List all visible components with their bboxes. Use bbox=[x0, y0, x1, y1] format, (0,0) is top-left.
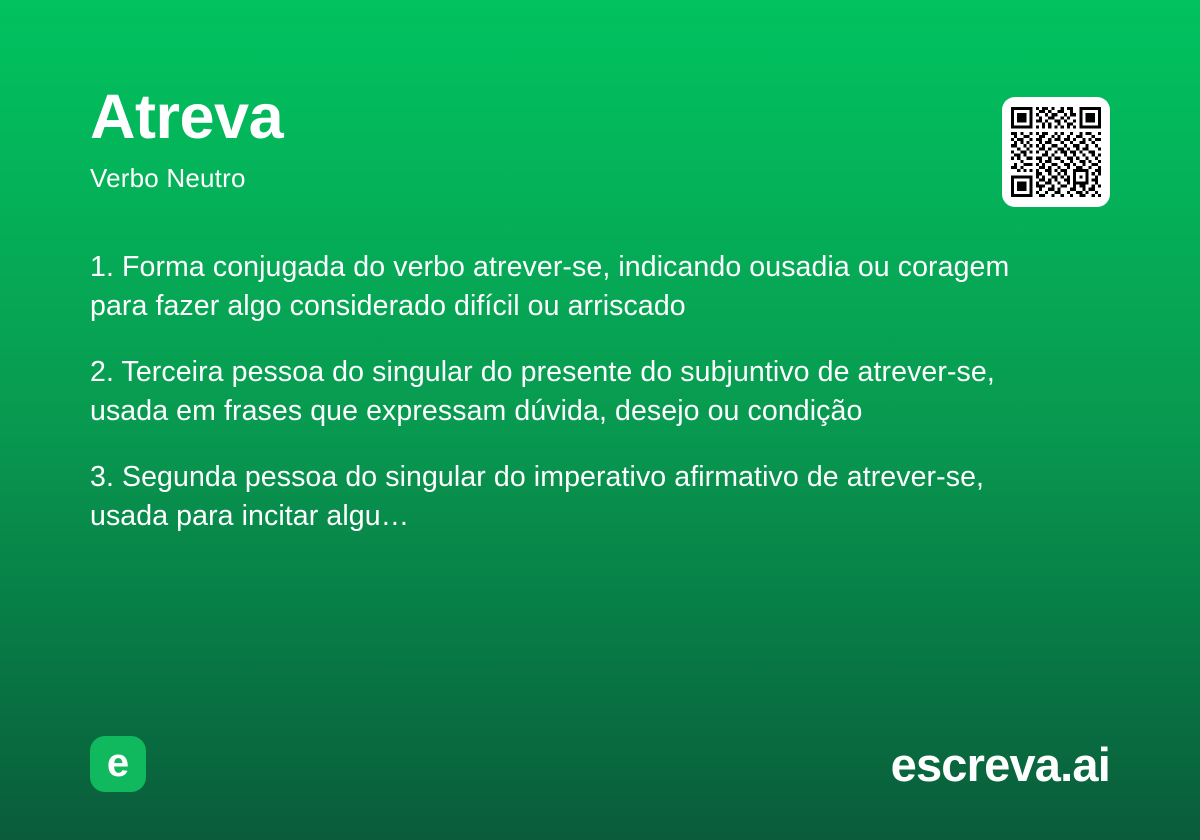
logo-letter-e-icon: e bbox=[107, 743, 129, 783]
card-header: Atreva Verbo Neutro bbox=[90, 86, 1110, 194]
definitions-list: 1. Forma conjugada do verbo atrever-se, … bbox=[90, 248, 1070, 536]
definition-item: 3. Segunda pessoa do singular do imperat… bbox=[90, 458, 1070, 536]
word-class-label: Verbo Neutro bbox=[90, 163, 1110, 194]
brand-wordmark: escreva.ai bbox=[891, 741, 1110, 788]
qr-code-card[interactable] bbox=[1002, 97, 1110, 207]
logo-badge: e bbox=[90, 736, 146, 792]
definition-item: 2. Terceira pessoa do singular do presen… bbox=[90, 353, 1070, 431]
dictionary-card: Atreva Verbo Neutro bbox=[0, 0, 1200, 840]
card-footer: e escreva.ai bbox=[90, 736, 1110, 792]
qr-code-icon bbox=[1011, 106, 1101, 198]
definition-item: 1. Forma conjugada do verbo atrever-se, … bbox=[90, 248, 1070, 326]
page-title: Atreva bbox=[90, 86, 1110, 149]
